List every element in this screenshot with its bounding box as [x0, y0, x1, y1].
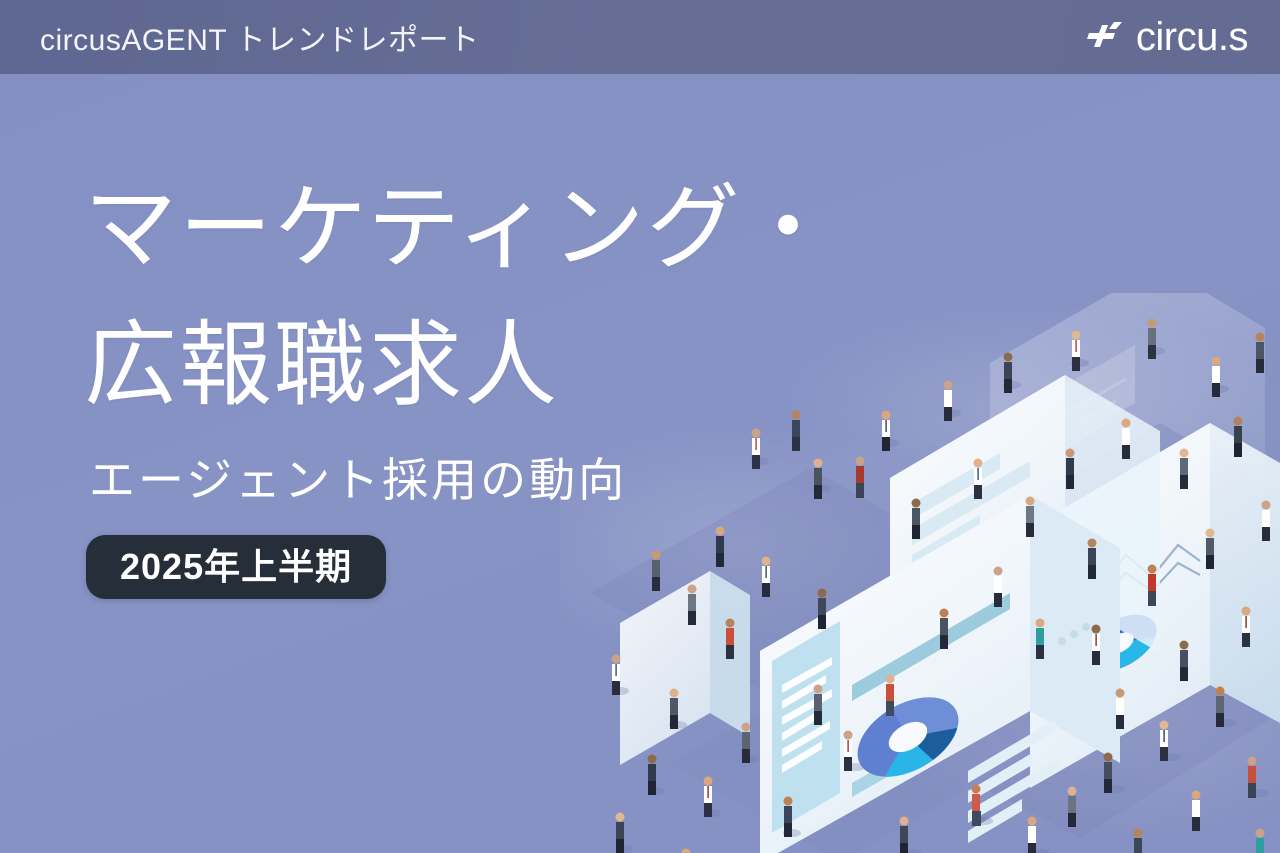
- report-header-bar: circusAGENT トレンドレポート circu.s: [0, 0, 1280, 74]
- brand-wordmark: circu.s: [1136, 17, 1248, 57]
- page-subtitle: エージェント採用の動向: [89, 453, 837, 508]
- period-badge-label: 2025年上半期: [120, 549, 352, 585]
- period-badge: 2025年上半期: [86, 535, 386, 599]
- header-title: circusAGENT トレンドレポート: [40, 15, 479, 59]
- page-title: マーケティング・ 広報職求人: [84, 160, 837, 433]
- report-cover-page: circusAGENT トレンドレポート circu.s マーケティング・ 広報…: [0, 0, 1280, 853]
- circus-asterisk-mark-icon: [1085, 20, 1125, 54]
- circus-brand-logo[interactable]: circu.s: [1085, 17, 1248, 57]
- hero-text-block: マーケティング・ 広報職求人 エージェント採用の動向 2025年上半期: [84, 160, 837, 599]
